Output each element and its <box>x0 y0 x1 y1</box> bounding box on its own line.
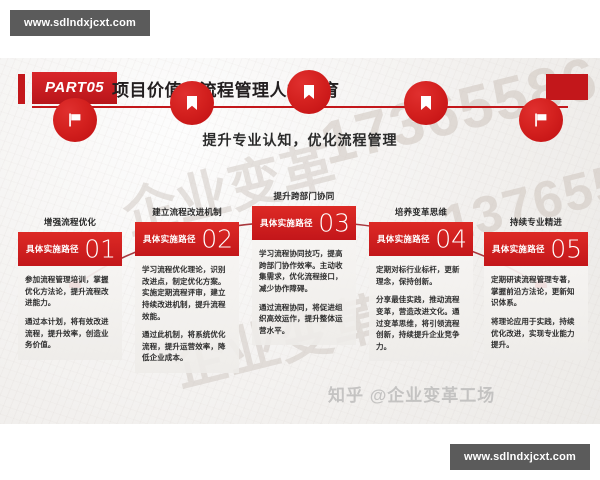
step-card-2[interactable]: 建立流程改进机制 具体实施路径 02 学习流程优化理论，识别改进点，制定优化方案… <box>135 206 239 373</box>
step-number: 03 <box>318 211 350 236</box>
step-paragraph: 分享最佳实践，推动流程变革，营造改进文化。通过变革思维，将引领流程创新，持续提升… <box>376 294 466 352</box>
step-header: 具体实施路径 04 <box>369 222 473 256</box>
step-card-1[interactable]: 增强流程优化 具体实施路径 01 参加流程管理培训，掌握优化方法论，提升流程改进… <box>18 216 122 360</box>
step-paragraph: 通过本计划，将有效改进流程，提升效率，创造业务价值。 <box>25 316 115 351</box>
slide-canvas: 企业变革 企业变革 17365586 13765586 PART05 项目价值：… <box>0 58 600 424</box>
step-paragraph: 定期研读流程管理专著，掌握前沿方法论，更新知识体系。 <box>491 274 581 309</box>
step-label: 具体实施路径 <box>260 217 313 229</box>
step-header: 具体实施路径 03 <box>252 206 356 240</box>
step-paragraph: 通过流程协同，将促进组织高效运作，提升整体运营水平。 <box>259 302 349 337</box>
site-url-badge-top: www.sdlndxjcxt.com <box>10 10 150 36</box>
step-number: 05 <box>550 237 582 262</box>
step-label: 具体实施路径 <box>492 243 545 255</box>
step-number: 01 <box>84 237 116 262</box>
step-number: 04 <box>435 227 467 252</box>
step-card-4[interactable]: 培养变革思维 具体实施路径 04 定期对标行业标杆，更新理念，保持创新。 分享最… <box>369 206 473 361</box>
bookmark-icon <box>184 94 200 112</box>
step-caption: 增强流程优化 <box>18 216 122 228</box>
zhihu-watermark: 知乎 @企业变革工场 <box>328 381 495 406</box>
timeline-node-2[interactable] <box>170 81 214 125</box>
timeline-node-5[interactable] <box>519 98 563 142</box>
step-body: 参加流程管理培训，掌握优化方法论，提升流程改进能力。 通过本计划，将有效改进流程… <box>18 266 122 360</box>
step-paragraph: 参加流程管理培训，掌握优化方法论，提升流程改进能力。 <box>25 274 115 309</box>
header-corner-block <box>546 74 588 100</box>
step-paragraph: 学习流程优化理论，识别改进点，制定优化方案。实施定期流程评审，建立持续改进机制，… <box>142 264 232 322</box>
timeline-node-1[interactable] <box>53 98 97 142</box>
step-header: 具体实施路径 05 <box>484 232 588 266</box>
step-header: 具体实施路径 02 <box>135 222 239 256</box>
step-card-5[interactable]: 持续专业精进 具体实施路径 05 定期研读流程管理专著，掌握前沿方法论，更新知识… <box>484 216 588 360</box>
header-accent-bar <box>18 74 25 104</box>
bookmark-icon <box>418 94 434 112</box>
step-label: 具体实施路径 <box>143 233 196 245</box>
step-label: 具体实施路径 <box>26 243 79 255</box>
timeline-node-3[interactable] <box>287 70 331 114</box>
step-caption: 培养变革思维 <box>369 206 473 218</box>
step-body: 学习流程协同技巧，提高跨部门协作效率。主动收集需求，优化流程接口，减少协作障碍。… <box>252 240 356 345</box>
step-paragraph: 定期对标行业标杆，更新理念，保持创新。 <box>376 264 466 287</box>
step-caption: 建立流程改进机制 <box>135 206 239 218</box>
step-paragraph: 通过此机制，将系统优化流程，提升运营效率，降低企业成本。 <box>142 329 232 364</box>
step-header: 具体实施路径 01 <box>18 232 122 266</box>
step-number: 02 <box>201 227 233 252</box>
bookmark-icon <box>301 83 317 101</box>
step-label: 具体实施路径 <box>377 233 430 245</box>
step-caption: 提升跨部门协同 <box>252 190 356 202</box>
step-paragraph: 将理论应用于实践，持续优化改进，实现专业能力提升。 <box>491 316 581 351</box>
step-paragraph: 学习流程协同技巧，提高跨部门协作效率。主动收集需求，优化流程接口，减少协作障碍。 <box>259 248 349 295</box>
flag-icon <box>66 111 84 129</box>
step-body: 定期对标行业标杆，更新理念，保持创新。 分享最佳实践，推动流程变革，营造改进文化… <box>369 256 473 361</box>
step-body: 学习流程优化理论，识别改进点，制定优化方案。实施定期流程评审，建立持续改进机制，… <box>135 256 239 373</box>
site-url-badge-bottom: www.sdlndxjcxt.com <box>450 444 590 470</box>
flag-icon <box>532 111 550 129</box>
step-caption: 持续专业精进 <box>484 216 588 228</box>
timeline-node-4[interactable] <box>404 81 448 125</box>
step-card-3[interactable]: 提升跨部门协同 具体实施路径 03 学习流程协同技巧，提高跨部门协作效率。主动收… <box>252 190 356 345</box>
step-body: 定期研读流程管理专著，掌握前沿方法论，更新知识体系。 将理论应用于实践，持续优化… <box>484 266 588 360</box>
